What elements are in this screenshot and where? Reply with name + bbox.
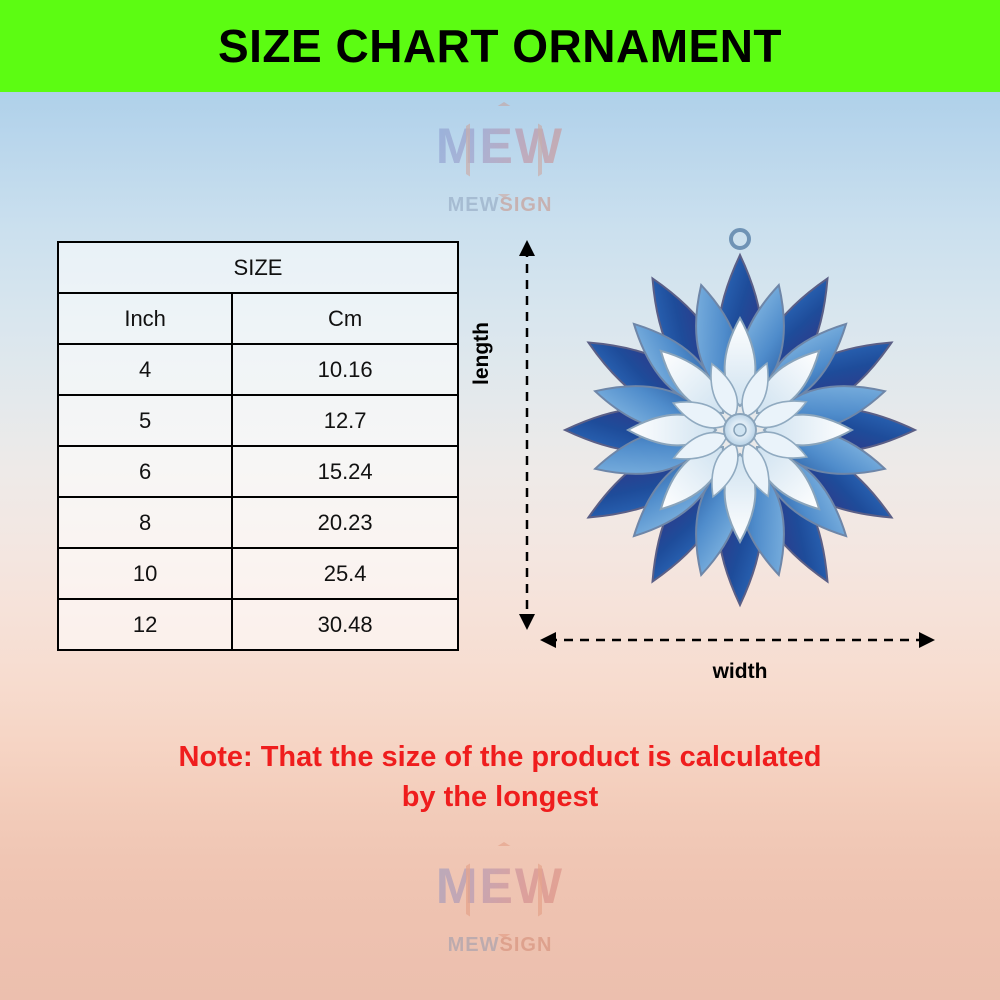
cell-cm: 10.16 (232, 344, 458, 395)
length-dimension-arrow (497, 240, 557, 630)
table-row: 5 12.7 (58, 395, 458, 446)
table-row-title: SIZE (58, 242, 458, 293)
cell-cm: 12.7 (232, 395, 458, 446)
width-label: width (600, 660, 880, 684)
watermark-top: MEW MEWSIGN (405, 100, 595, 217)
table-header-cm: Cm (232, 293, 458, 344)
watermark-brand-prefix: MEW (448, 934, 500, 956)
length-label: length (470, 322, 494, 385)
cell-cm: 25.4 (232, 548, 458, 599)
product-image (560, 225, 920, 630)
note-text: Note: That the size of the product is ca… (0, 737, 1000, 817)
watermark-letters: MEW (425, 840, 575, 932)
mandala-body (560, 246, 920, 613)
watermark-bottom: MEW MEWSIGN (405, 840, 595, 957)
watermark-brand-suffix: SIGN (499, 194, 552, 216)
watermark-logo-mark: MEW (425, 100, 575, 192)
cell-inch: 4 (58, 344, 232, 395)
table-header-inch: Inch (58, 293, 232, 344)
cell-inch: 6 (58, 446, 232, 497)
table-row: 6 15.24 (58, 446, 458, 497)
lotus-mandala-svg (560, 225, 920, 630)
hanger-loop (731, 230, 749, 248)
size-table: SIZE Inch Cm 4 10.16 5 12.7 6 15.24 8 20… (57, 241, 459, 651)
cell-cm: 20.23 (232, 497, 458, 548)
watermark-letters: MEW (425, 100, 575, 192)
watermark-brand-name: MEWSIGN (405, 194, 595, 217)
table-row: 10 25.4 (58, 548, 458, 599)
hexagon-icon (466, 842, 542, 938)
page-title: SIZE CHART ORNAMENT (0, 0, 1000, 92)
note-line-2: by the longest (0, 777, 1000, 817)
table-row-header: Inch Cm (58, 293, 458, 344)
cell-inch: 8 (58, 497, 232, 548)
table-row: 12 30.48 (58, 599, 458, 650)
table-row: 8 20.23 (58, 497, 458, 548)
watermark-brand-name: MEWSIGN (405, 934, 595, 957)
table-row: 4 10.16 (58, 344, 458, 395)
cell-cm: 15.24 (232, 446, 458, 497)
note-line-1: Note: That the size of the product is ca… (0, 737, 1000, 777)
table-title-cell: SIZE (58, 242, 458, 293)
watermark-brand-prefix: MEW (448, 194, 500, 216)
hexagon-icon (466, 102, 542, 198)
watermark-logo-mark: MEW (425, 840, 575, 932)
watermark-brand-suffix: SIGN (499, 934, 552, 956)
cell-inch: 10 (58, 548, 232, 599)
cell-cm: 30.48 (232, 599, 458, 650)
size-chart-page: SIZE CHART ORNAMENT MEW MEWSIGN SIZE Inc… (0, 0, 1000, 1000)
cell-inch: 12 (58, 599, 232, 650)
cell-inch: 5 (58, 395, 232, 446)
